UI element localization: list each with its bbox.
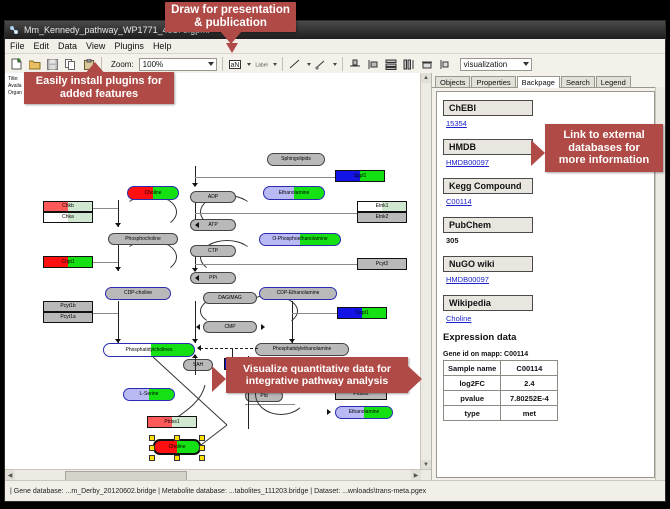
edge — [195, 213, 357, 214]
db-link-nugo-wiki[interactable]: HMDB00097 — [446, 275, 654, 284]
metabolite-node-choline[interactable]: Choline — [127, 186, 179, 200]
metabolite-node-dagmag[interactable]: DAG/MAG — [203, 292, 257, 304]
callout-visualize-text: Visualize quantitative data for integrat… — [243, 363, 391, 387]
metabolite-node-l-serine-left[interactable]: L-Serine — [123, 388, 175, 401]
line-tool-icon[interactable] — [288, 57, 303, 72]
node-label: Pcyt2 — [376, 262, 389, 267]
gene-node-cept1[interactable]: Cept1 — [337, 307, 387, 319]
db-header-pubchem: PubChem — [443, 217, 533, 233]
distribute-icon[interactable] — [402, 57, 417, 72]
metabolite-node-cmp[interactable]: CMP — [203, 321, 257, 333]
edge — [93, 208, 118, 209]
gene-node-pcyt1a[interactable]: Pcyt1a — [43, 312, 93, 323]
new-file-icon[interactable] — [9, 57, 24, 72]
metabolite-node-phosphocholine[interactable]: Phosphocholine — [108, 233, 178, 245]
table-row: Sample name C00114 — [444, 361, 558, 376]
table-row: pvalue 7.80252E-4 — [444, 391, 558, 406]
svg-text:aN: aN — [231, 62, 240, 69]
pathway-canvas[interactable]: Title: Availa Organ — [5, 73, 432, 480]
metabolite-node-ethanolamine-right[interactable]: Ethanolamine — [335, 406, 393, 419]
node-label: Phosphatidylcholines — [126, 348, 173, 353]
callout-draw-text: Draw for presentation & publication — [171, 4, 290, 30]
expr-value: 7.80252E-4 — [501, 391, 558, 406]
expr-value: C00114 — [501, 361, 558, 376]
db-link-kegg-compound[interactable]: C00114 — [446, 197, 654, 206]
scroll-right-icon[interactable]: ▶ — [411, 470, 421, 480]
db-header-kegg-compound: Kegg Compound — [443, 178, 533, 194]
edge — [93, 313, 118, 314]
node-label: Choline — [145, 191, 162, 196]
expr-key: pvalue — [444, 391, 501, 406]
metabolite-node-cdp-ethanolamine[interactable]: CDP-Ethanolamine — [259, 287, 337, 300]
node-label: Cept1 — [355, 311, 368, 316]
metabolite-node-o-phosphoethanolamine[interactable]: O-Phosphoethanolamine — [259, 233, 341, 246]
callout-visualize: Visualize quantitative data for integrat… — [226, 357, 408, 393]
callout-link-tail — [531, 140, 545, 166]
metabolite-node-phosphatidylcholines[interactable]: Phosphatidylcholines — [103, 343, 195, 357]
menu-plugins[interactable]: Plugins — [114, 41, 144, 51]
edge — [93, 262, 118, 263]
scroll-left-icon[interactable]: ◀ — [5, 470, 15, 480]
db-header-chebi: ChEBI — [443, 100, 533, 116]
reaction-arc — [123, 195, 177, 229]
copy-icon[interactable] — [63, 57, 78, 72]
node-label: Sgpl1 — [354, 174, 367, 179]
arrowhead-icon — [327, 409, 331, 415]
db-header-hmdb: HMDB — [443, 139, 533, 155]
label-tool-icon[interactable]: Label — [254, 57, 269, 72]
expression-table: Sample name C00114 log2FC 2.4 pvalue 7.8… — [443, 360, 558, 421]
menu-view[interactable]: View — [86, 41, 105, 51]
node-label: L-Serine — [140, 392, 159, 397]
node-label: ADP — [208, 195, 218, 200]
reaction-arc — [123, 240, 177, 274]
gene-id-line: Gene id on mapp: C00114 — [443, 351, 654, 358]
callout-draw-pointer — [226, 43, 238, 53]
node-label: Etnk1 — [376, 204, 389, 209]
node-label: CDP-Ethanolamine — [277, 291, 320, 296]
metabolite-node-sphingolipids[interactable]: Sphingolipids — [267, 153, 325, 166]
interaction-dropdown-icon[interactable] — [333, 63, 337, 66]
selection-handle[interactable] — [174, 435, 180, 441]
canvas-vertical-scrollbar[interactable]: ▲ ▼ — [420, 73, 431, 470]
chevron-down-icon — [523, 62, 529, 66]
node-label: Chkb — [62, 204, 74, 209]
menu-help[interactable]: Help — [153, 41, 172, 51]
expr-value: 2.4 — [501, 376, 558, 391]
selection-handle[interactable] — [174, 455, 180, 461]
node-label: CDP-choline — [124, 291, 152, 296]
menu-file[interactable]: File — [10, 41, 25, 51]
data-node-icon[interactable]: aN — [228, 57, 243, 72]
toolbar-separator — [342, 57, 343, 71]
tab-objects[interactable]: Objects — [435, 76, 470, 88]
zoom-combo[interactable]: 100% — [139, 58, 217, 71]
metabolite-node-sah[interactable]: SAH — [183, 359, 213, 371]
expr-key: type — [444, 406, 501, 421]
node-label: Chka — [62, 215, 74, 220]
open-folder-icon[interactable] — [27, 57, 42, 72]
menubar[interactable]: File Edit Data View Plugins Help — [5, 39, 665, 54]
stack-icon[interactable] — [384, 57, 399, 72]
gene-node-chkb[interactable]: Chkb — [43, 201, 93, 212]
zoom-label: Zoom: — [111, 60, 134, 69]
save-icon[interactable] — [45, 57, 60, 72]
pathvisio-icon — [9, 25, 19, 35]
gene-node-pcyt2[interactable]: Pcyt2 — [357, 258, 407, 270]
table-row: log2FC 2.4 — [444, 376, 558, 391]
selection-handle[interactable] — [149, 435, 155, 441]
meta-title: Title: — [8, 76, 22, 83]
tab-properties[interactable]: Properties — [471, 76, 515, 88]
node-label: Etnk2 — [376, 215, 389, 220]
expr-key: log2FC — [444, 376, 501, 391]
gene-node-chka[interactable]: Chka — [43, 212, 93, 223]
menu-data[interactable]: Data — [58, 41, 77, 51]
metabolite-node-adp[interactable]: ADP — [190, 191, 236, 203]
side-panel-tabs[interactable]: Objects Properties Backpage Search Legen… — [432, 73, 665, 88]
label-dropdown-icon[interactable] — [273, 63, 277, 66]
callout-link-text: Link to external databases for more info… — [559, 129, 649, 167]
node-label: Ethanolamine — [349, 410, 380, 415]
db-header-wikipedia: Wikipedia — [443, 295, 533, 311]
svg-text:Label: Label — [255, 62, 267, 68]
selection-handle[interactable] — [149, 445, 155, 451]
line-dropdown-icon[interactable] — [307, 63, 311, 66]
tab-search[interactable]: Search — [561, 76, 595, 88]
gene-node-sgpl1[interactable]: Sgpl1 — [335, 170, 385, 182]
arrowhead-icon — [195, 222, 199, 228]
arrowhead-icon — [115, 267, 121, 271]
expression-data-title: Expression data — [443, 332, 654, 343]
node-label: Chpt1 — [61, 260, 74, 265]
expr-key: Sample name — [444, 361, 501, 376]
zoom-value: 100% — [143, 60, 163, 69]
interaction-tool-icon[interactable] — [314, 57, 329, 72]
node-label: Pcyt1a — [60, 315, 75, 320]
callout-link: Link to external databases for more info… — [545, 124, 663, 172]
meta-availability: Availa — [8, 83, 22, 90]
node-label: Ptdss1 — [164, 420, 179, 425]
metabolite-node-phosphatidylethanolamine[interactable]: Phosphatidylethanolamine — [255, 343, 349, 356]
node-label: O-Phosphoethanolamine — [272, 237, 327, 242]
metabolite-node-choline-selected[interactable]: Choline — [153, 439, 201, 455]
gene-node-etnk2[interactable]: Etnk2 — [357, 212, 407, 223]
metabolite-node-ctp[interactable]: CTP — [190, 245, 236, 257]
order-icon[interactable] — [438, 57, 453, 72]
toolbar-separator — [222, 57, 223, 71]
node-label: Sphingolipids — [281, 157, 311, 162]
callout-visualize-tail-left — [212, 366, 226, 392]
gene-node-ptdss1[interactable]: Ptdss1 — [147, 416, 197, 428]
screenshot-root: Mm_Kennedy_pathway_WP1771_45176.gpml Fil… — [0, 0, 670, 509]
selection-handle[interactable] — [199, 435, 205, 441]
gene-node-etnk1[interactable]: Etnk1 — [357, 201, 407, 212]
metabolite-node-cdp-choline[interactable]: CDP-choline — [105, 287, 171, 300]
status-text: | Gene database: ...m_Derby_20120602.bri… — [5, 488, 426, 495]
edge — [195, 357, 196, 375]
window-titlebar: Mm_Kennedy_pathway_WP1771_45176.gpml — [5, 21, 665, 39]
node-label: CMP — [224, 325, 235, 330]
group-icon[interactable] — [420, 57, 435, 72]
edge — [195, 264, 357, 265]
selection-handle[interactable] — [199, 445, 205, 451]
edge-dashed — [200, 348, 258, 349]
node-label: Phosphatidylethanolamine — [273, 347, 332, 352]
node-label: Phosphocholine — [125, 237, 161, 242]
node-label: Ethanolamine — [279, 191, 310, 196]
expr-value: met — [501, 406, 558, 421]
node-label: Choline — [169, 445, 186, 450]
gene-node-chpt1[interactable]: Chpt1 — [43, 256, 93, 268]
db-value-pubchem: 305 — [446, 236, 654, 245]
chevron-down-icon — [208, 62, 214, 66]
callout-plugins-text: Easily install plugins for added feature… — [36, 75, 163, 100]
node-label: DAG/MAG — [218, 296, 242, 301]
edge — [292, 313, 337, 314]
arrowhead-icon — [196, 324, 200, 330]
db-link-wikipedia[interactable]: Choline — [446, 314, 654, 323]
node-label: CTP — [208, 249, 218, 254]
canvas-meta: Title: Availa Organ — [8, 76, 22, 97]
arrowhead-icon — [192, 339, 198, 343]
meta-organism: Organ — [8, 90, 22, 97]
callout-visualize-tail-right — [408, 366, 422, 392]
statusbar: | Gene database: ...m_Derby_20120602.bri… — [5, 480, 665, 501]
selection-handle[interactable] — [199, 455, 205, 461]
edge — [195, 177, 337, 178]
arrowhead-icon — [192, 183, 198, 187]
edge — [195, 301, 196, 343]
toolbar-separator — [282, 57, 283, 71]
data-node-dropdown-icon[interactable] — [247, 63, 251, 66]
align-left-icon[interactable] — [366, 57, 381, 72]
tab-legend[interactable]: Legend — [596, 76, 631, 88]
arrowhead-icon — [115, 223, 121, 227]
visualization-value: visualization — [464, 60, 508, 69]
arrowhead-icon — [195, 275, 199, 281]
align-top-icon[interactable] — [348, 57, 363, 72]
metabolite-node-ethanolamine[interactable]: Ethanolamine — [263, 186, 325, 200]
edge — [118, 301, 119, 343]
arrowhead-icon — [261, 324, 265, 330]
tab-backpage[interactable]: Backpage — [517, 76, 560, 89]
gene-node-pcyt1b[interactable]: Pcyt1b — [43, 301, 93, 312]
node-label: ATP — [208, 223, 217, 228]
canvas-horizontal-scrollbar[interactable]: ◀ ▶ — [5, 469, 431, 480]
arrowhead-icon — [197, 345, 201, 351]
selection-handle[interactable] — [149, 455, 155, 461]
callout-plugins: Easily install plugins for added feature… — [24, 72, 174, 104]
visualization-combo[interactable]: visualization — [460, 58, 532, 71]
node-label: PPi — [209, 276, 217, 281]
db-header-nugo-wiki: NuGO wiki — [443, 256, 533, 272]
table-row: type met — [444, 406, 558, 421]
menu-edit[interactable]: Edit — [34, 41, 50, 51]
callout-draw: Draw for presentation & publication — [165, 2, 296, 32]
node-label: Pcyt1b — [60, 304, 75, 309]
scroll-up-icon[interactable]: ▲ — [421, 73, 431, 83]
scrollbar-thumb[interactable] — [65, 471, 187, 480]
